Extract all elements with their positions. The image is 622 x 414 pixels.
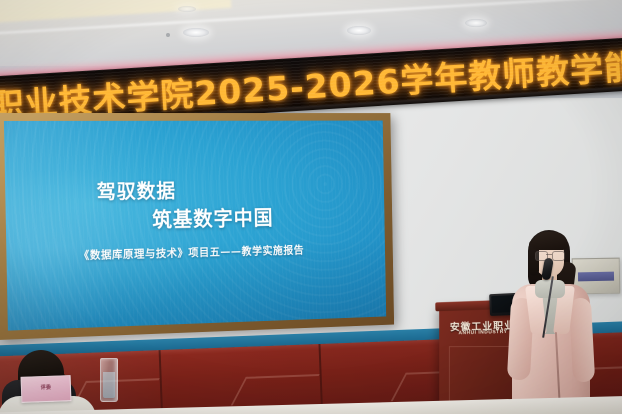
name-card-text: 评委 xyxy=(25,383,67,391)
presenter-arm-right xyxy=(569,297,595,382)
presenter-hair-front xyxy=(532,232,568,250)
seated-attendee: 评委 xyxy=(0,350,126,414)
name-card: 评委 xyxy=(21,375,72,403)
slide-content: 驾驭数据 筑基数字中国 《数据库原理与技术》项目五——教学实施报告 xyxy=(4,121,386,331)
presentation-hall-photo: 职业技术学院2025-2026学年教师教学能力大赛 驾驭数据 筑基数字中国 《数… xyxy=(0,0,622,414)
slide-title-line-2: 筑基数字中国 xyxy=(152,203,274,234)
wainscot-chevron xyxy=(231,374,320,405)
projection-screen-frame: 驾驭数据 筑基数字中国 《数据库原理与技术》项目五——教学实施报告 xyxy=(0,113,394,340)
slide-title-line-1: 驾驭数据 xyxy=(96,175,176,204)
presenter xyxy=(500,228,604,414)
ceiling-fixture-dot xyxy=(166,33,170,37)
downlight-icon xyxy=(178,6,196,12)
wainscot-seam xyxy=(159,350,164,414)
downlight-icon xyxy=(183,28,209,37)
glasses-lens-right xyxy=(552,251,565,261)
slide-subtitle: 《数据库原理与技术》项目五——教学实施报告 xyxy=(79,242,305,263)
water-glass xyxy=(100,358,118,402)
downlight-icon xyxy=(465,19,487,27)
downlight-icon xyxy=(347,26,371,35)
projection-screen-surface: 驾驭数据 筑基数字中国 《数据库原理与技术》项目五——教学实施报告 xyxy=(4,121,386,331)
